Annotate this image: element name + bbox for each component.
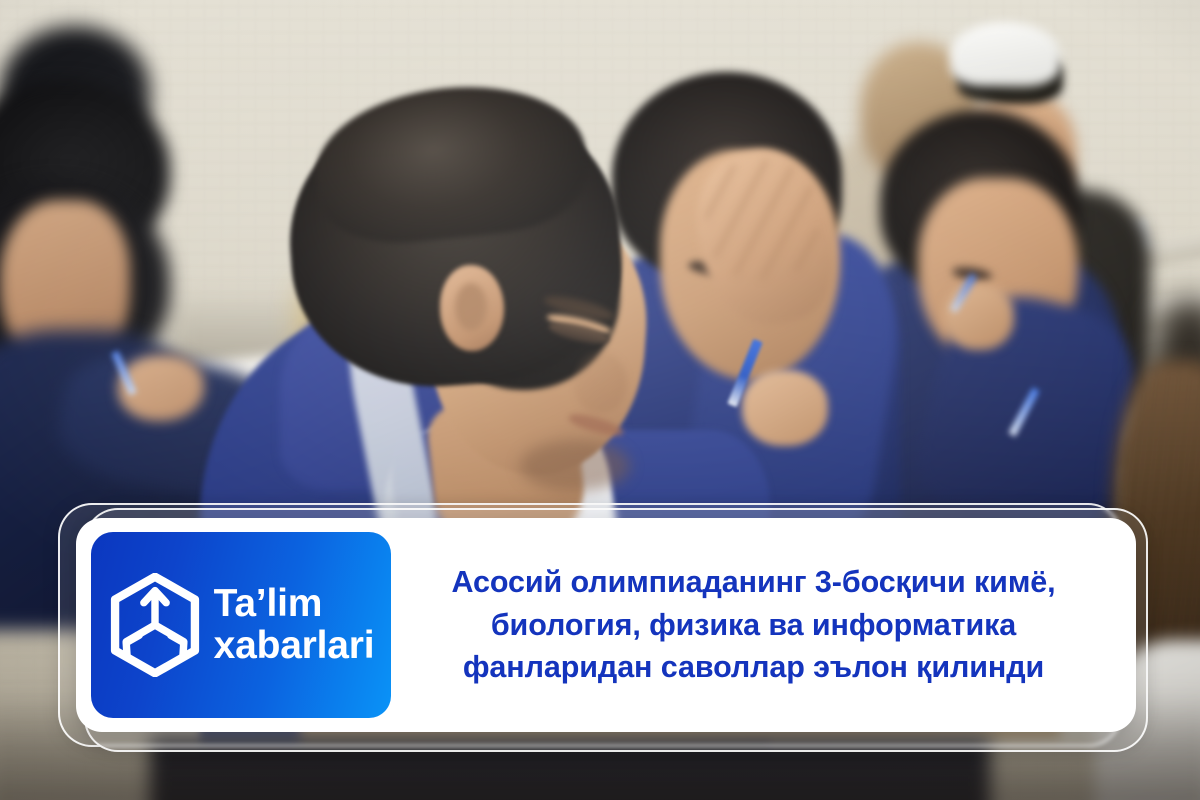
cube-arrows-logo-icon xyxy=(108,573,202,677)
news-banner: Ta’lim xabarlari Асосий олимпиаданинг 3-… xyxy=(58,503,1144,748)
brand-logo-text: Ta’lim xabarlari xyxy=(214,584,375,666)
brand-logo-tile[interactable]: Ta’lim xabarlari xyxy=(91,532,391,718)
brand-logo-line2: xabarlari xyxy=(214,626,375,666)
brand-logo-line1: Ta’lim xyxy=(214,584,375,624)
banner-card: Ta’lim xabarlari Асосий олимпиаданинг 3-… xyxy=(76,518,1136,732)
banner-screenshot: Ta’lim xabarlari Асосий олимпиаданинг 3-… xyxy=(0,0,1200,800)
headline-text: Асосий олимпиаданинг 3-босқичи кимё, био… xyxy=(391,561,1136,689)
